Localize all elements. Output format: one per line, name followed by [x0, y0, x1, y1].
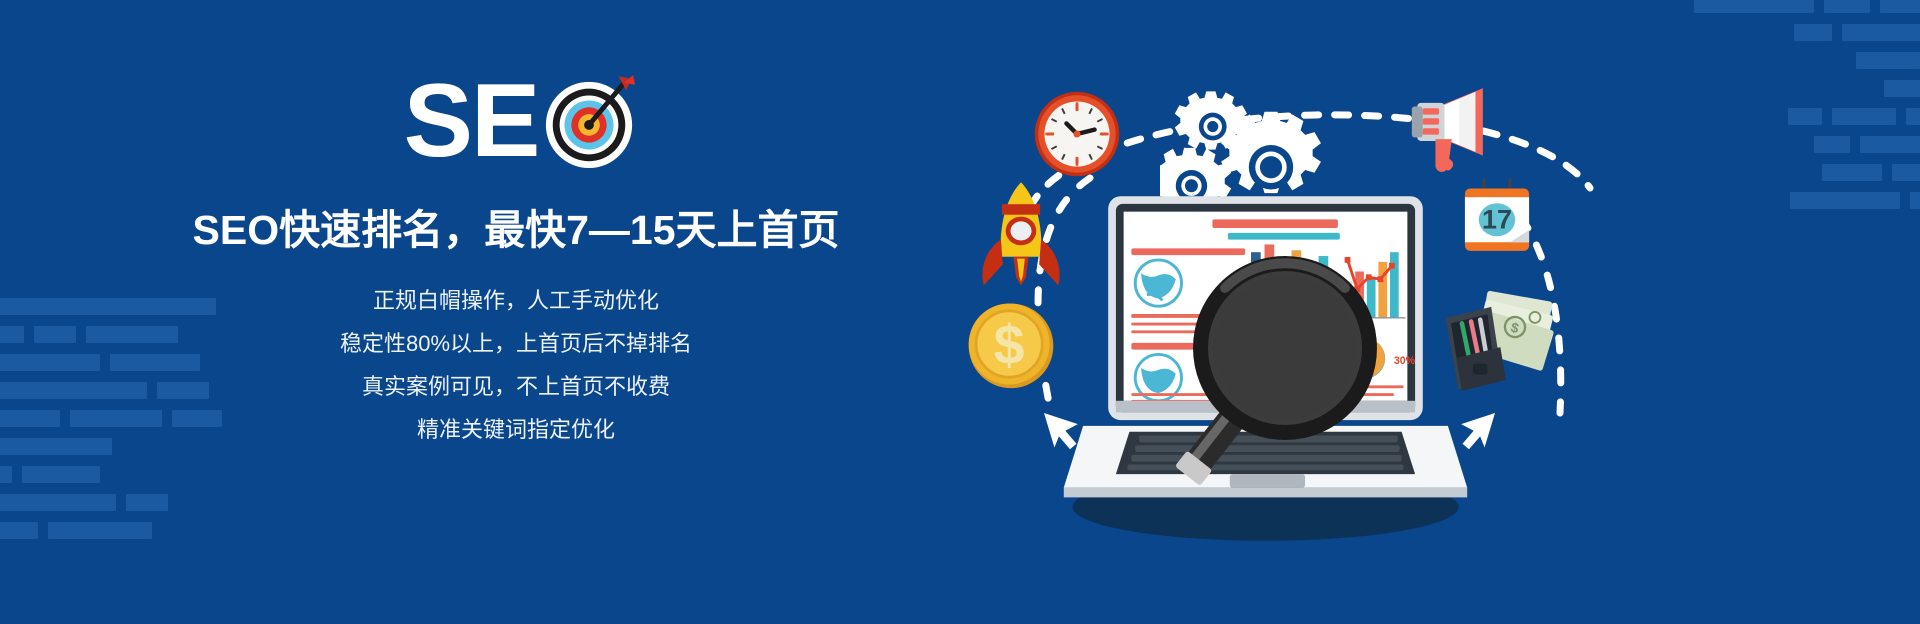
feature-line: 真实案例可见，不上首页不收费	[186, 376, 846, 398]
feature-list: 正规白帽操作，人工手动优化 稳定性80%以上，上首页后不掉排名 真实案例可见，不…	[186, 290, 846, 441]
decor-code-right	[1660, 0, 1920, 624]
megaphone-icon	[1395, 81, 1505, 181]
rocket-icon	[978, 178, 1064, 303]
text-column: SE SEO快速排名，最快7—15天上首页 正规白	[186, 74, 846, 462]
clock-icon	[1033, 90, 1121, 178]
seo-wordmark: SE	[196, 74, 846, 170]
svg-text:$: $	[994, 314, 1025, 376]
feature-line: 稳定性80%以上，上首页后不掉排名	[186, 333, 846, 355]
dollar-coin-icon: $	[965, 298, 1057, 390]
seo-banner: SE SEO快速排名，最快7—15天上首页 正规白	[0, 0, 1920, 624]
cursor-arrow-icon	[1044, 403, 1084, 451]
magnifier-icon	[1175, 243, 1425, 513]
seo-analytics-illustration: 17 $	[1000, 58, 1650, 578]
cursor-arrow-icon	[1455, 403, 1495, 451]
page-title: SEO快速排名，最快7—15天上首页	[186, 208, 846, 253]
feature-line: 精准关键词指定优化	[186, 419, 846, 441]
feature-line: 正规白帽操作，人工手动优化	[186, 290, 846, 312]
dartboard-target-icon	[540, 73, 638, 171]
svg-text:17: 17	[1482, 204, 1512, 234]
wordmark-letters: SE	[404, 75, 539, 169]
